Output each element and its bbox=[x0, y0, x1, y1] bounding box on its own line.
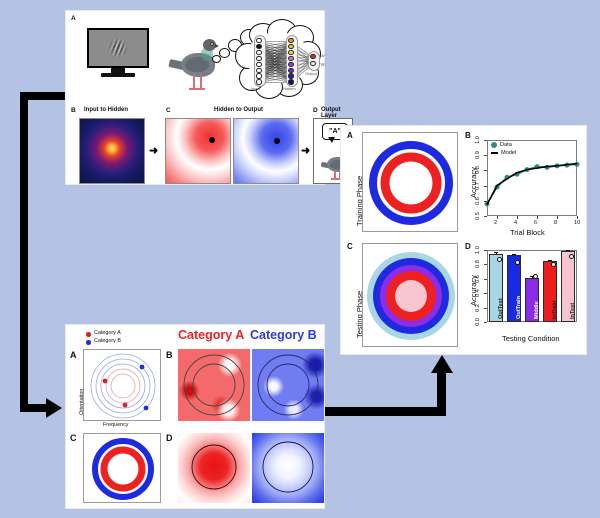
legend-marker-model bbox=[491, 152, 498, 154]
hidden-to-output-b-marker bbox=[274, 138, 280, 144]
hidden-node-0 bbox=[288, 38, 293, 43]
chart-d-ylabel-text: Accuracy bbox=[469, 275, 478, 306]
scatter-xlabel: Frequency bbox=[103, 422, 128, 428]
panel-label-b-bottom: B bbox=[166, 350, 173, 360]
gabor-patch-icon bbox=[101, 31, 135, 65]
chart-b-line-model bbox=[487, 164, 577, 205]
chart-b-series-svg bbox=[461, 130, 583, 242]
category-b-receptive-field bbox=[252, 349, 324, 421]
cat-b-out-ring bbox=[252, 433, 324, 503]
bottom-ring-stimulus bbox=[83, 433, 161, 503]
monitor-screen bbox=[87, 28, 149, 68]
chart-d-ytick-label-0: 0.0 bbox=[475, 318, 481, 326]
model-point-outtest bbox=[497, 257, 502, 262]
chart-d-ytick-5 bbox=[484, 250, 487, 251]
hidden-node-1 bbox=[288, 44, 293, 49]
speech-bubble-tail bbox=[328, 137, 335, 143]
legend-label-category-b: Category B bbox=[94, 338, 121, 344]
arrow2-head-up bbox=[431, 355, 453, 373]
arrow2-seg-vertical bbox=[437, 372, 446, 416]
stimulus-monitor bbox=[87, 28, 149, 78]
input-node-1 bbox=[256, 44, 261, 49]
chart-d-ytick-0 bbox=[484, 322, 487, 323]
hidden-node-7 bbox=[288, 79, 293, 84]
hidden-node-3 bbox=[288, 56, 293, 61]
input-node-3 bbox=[256, 56, 261, 61]
arrow-head-right bbox=[46, 398, 62, 418]
feature-space-svg bbox=[84, 350, 162, 422]
input-node-0 bbox=[256, 38, 261, 43]
input-node-4 bbox=[256, 62, 261, 67]
errorcap-intest bbox=[566, 250, 570, 251]
input-node-7 bbox=[256, 79, 261, 84]
arrow2-seg-horizontal bbox=[322, 407, 446, 416]
category-a-title: Category A bbox=[178, 328, 244, 342]
cat-a-out-ring bbox=[178, 433, 250, 503]
panel-label-c-top: C bbox=[166, 107, 171, 114]
legend-marker-data bbox=[491, 142, 497, 148]
hidden-to-output-heatmap-a bbox=[165, 118, 231, 184]
output-option-b: "B" bbox=[320, 62, 326, 67]
input-node-5 bbox=[256, 68, 261, 73]
legend-label-model: Model bbox=[501, 150, 516, 156]
panel-label-d-top: D bbox=[313, 107, 318, 114]
right-panel-box: A Training Phase B 0.50.60.70.80.91.0246… bbox=[341, 126, 586, 354]
pigeon-foot-right bbox=[196, 88, 205, 90]
legend-dot-category-a bbox=[86, 332, 91, 337]
top-panel-box: A bbox=[66, 11, 324, 184]
bottom-rings-svg bbox=[84, 434, 162, 504]
bottom-panel-box: Category A Category B Category A Categor… bbox=[66, 325, 324, 508]
chart-d-ytick-3 bbox=[484, 279, 487, 280]
panel-label-a-top: A bbox=[71, 15, 76, 22]
category-b-output-map bbox=[252, 433, 324, 503]
chart-d-ytick-1 bbox=[484, 308, 487, 309]
input-layer-label: Input bbox=[251, 86, 260, 91]
input-to-hidden-heatmap bbox=[79, 118, 145, 184]
output-layer-label: Output bbox=[305, 71, 317, 76]
chart-d-xlabel-text: Testing Condition bbox=[502, 334, 560, 343]
thought-bubble-2 bbox=[219, 48, 230, 58]
legend-dot-category-b bbox=[86, 340, 91, 345]
model-point-intrain bbox=[551, 262, 556, 267]
learning-curve-chart: 0.50.60.70.80.91.0246810AccuracyTrial Bl… bbox=[461, 130, 583, 242]
arrow-b-to-c-icon: ➜ bbox=[149, 146, 158, 157]
model-point-middle bbox=[533, 274, 538, 279]
legend-entry-model: Model bbox=[491, 150, 516, 156]
hidden-to-output-heatmap-b bbox=[233, 118, 299, 184]
output-node-0 bbox=[310, 54, 315, 59]
errorcap-outtest bbox=[494, 252, 498, 253]
category-a-output-map bbox=[178, 433, 250, 503]
panel-b-title: Input to Hidden bbox=[84, 107, 128, 113]
chart-d-ytick-label-4: 0.8 bbox=[475, 261, 481, 269]
arrow-seg-vertical bbox=[20, 92, 28, 412]
panel-label-c-right: C bbox=[347, 242, 353, 251]
model-point-intest bbox=[569, 254, 574, 259]
hidden-node-6 bbox=[288, 73, 293, 78]
chart-b-legend: DataModel bbox=[491, 142, 516, 156]
errorcap-intrain bbox=[548, 260, 552, 261]
cat-b-rings bbox=[252, 349, 324, 421]
panel-label-b-top: B bbox=[71, 107, 76, 114]
bar-label-intest: InTest bbox=[570, 303, 576, 319]
bar-label-outtrain: OutTrain bbox=[516, 296, 522, 319]
panel-label-d-bottom: D bbox=[166, 433, 173, 443]
testing-rings-svg bbox=[363, 244, 459, 348]
chart-d-ytick-4 bbox=[484, 264, 487, 265]
feature-space-plot bbox=[83, 349, 161, 421]
training-rings-svg bbox=[363, 133, 459, 233]
input-node-6 bbox=[256, 73, 261, 78]
bar-label-outtest: OutTest bbox=[498, 298, 504, 319]
cat-a-rings bbox=[178, 349, 250, 421]
model-point-outtrain bbox=[515, 260, 520, 265]
neural-network-diagram: Input Hidden Output "A" "B" bbox=[252, 33, 320, 93]
category-a-receptive-field bbox=[178, 349, 250, 421]
output-node-1 bbox=[310, 61, 315, 66]
input-node-2 bbox=[256, 50, 261, 55]
monitor-base bbox=[101, 73, 135, 77]
testing-condition-chart: 0.00.20.40.60.81.0OutTestOutTrainMiddleI… bbox=[461, 240, 583, 352]
panel-c-title: Hidden to Output bbox=[214, 107, 263, 113]
hidden-layer-label: Hidden bbox=[283, 86, 296, 91]
arrow-seg-bottom bbox=[20, 404, 48, 412]
legend-entry-data: Data bbox=[491, 142, 516, 148]
panel-label-c-bottom: C bbox=[70, 433, 77, 443]
pigeon-leg-left bbox=[193, 75, 195, 89]
category-b-title: Category B bbox=[250, 328, 317, 342]
hidden-to-output-a-marker bbox=[209, 137, 215, 143]
output-option-a: "A" bbox=[320, 53, 326, 58]
legend-label-category-a: Category A bbox=[94, 330, 121, 336]
chart-d-ytick-label-5: 1.0 bbox=[475, 246, 481, 254]
panel-label-a-right: A bbox=[347, 131, 353, 140]
chart-d-ytick-2 bbox=[484, 293, 487, 294]
hidden-node-2 bbox=[288, 50, 293, 55]
pigeon-leg-right bbox=[200, 75, 202, 89]
hidden-node-5 bbox=[288, 68, 293, 73]
testing-phase-stimulus bbox=[362, 243, 458, 347]
legend-label-data: Data bbox=[500, 142, 512, 148]
errorcap-outtrain bbox=[512, 254, 516, 255]
hidden-node-4 bbox=[288, 62, 293, 67]
bar-label-intrain: InTrain bbox=[552, 301, 558, 319]
bar-label-middle: Middle bbox=[534, 301, 540, 319]
training-phase-stimulus bbox=[362, 132, 458, 232]
panel-label-a-bottom: A bbox=[70, 350, 77, 360]
arrow-c-to-d-icon: ➜ bbox=[301, 146, 310, 157]
figure-canvas: A bbox=[0, 0, 600, 518]
